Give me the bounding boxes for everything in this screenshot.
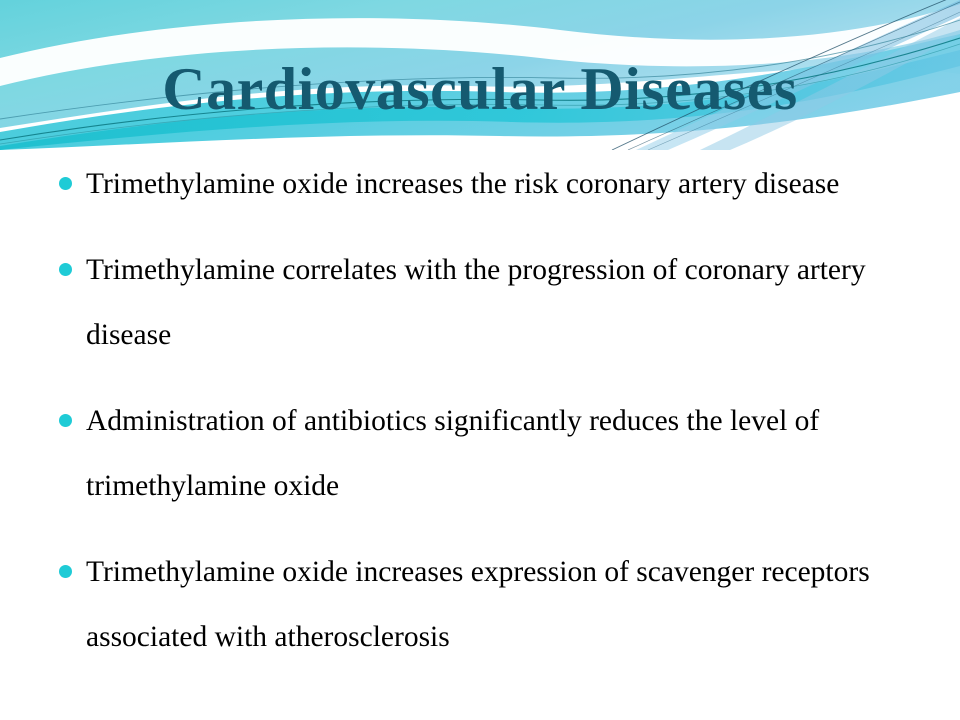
presentation-slide: Cardiovascular Diseases Trimethylamine o…: [0, 0, 960, 720]
list-item-text: Administration of antibiotics significan…: [86, 389, 926, 519]
list-item-text: Trimethylamine oxide increases expressio…: [86, 540, 926, 670]
list-item: Trimethylamine oxide increases expressio…: [46, 540, 926, 670]
bullet-dot-icon: [59, 414, 72, 427]
list-item: Administration of antibiotics significan…: [46, 389, 926, 519]
bullet-list: Trimethylamine oxide increases the risk …: [46, 152, 926, 670]
title-block: Cardiovascular Diseases: [0, 56, 960, 122]
bullet-dot-icon: [59, 177, 72, 190]
list-item-text: Trimethylamine correlates with the progr…: [86, 238, 926, 368]
bullet-dot-icon: [59, 565, 72, 578]
list-item-text: Trimethylamine oxide increases the risk …: [86, 152, 926, 217]
list-item: Trimethylamine oxide increases the risk …: [46, 152, 926, 217]
list-item: Trimethylamine correlates with the progr…: [46, 238, 926, 368]
bullet-dot-icon: [59, 263, 72, 276]
page-title: Cardiovascular Diseases: [162, 56, 797, 122]
